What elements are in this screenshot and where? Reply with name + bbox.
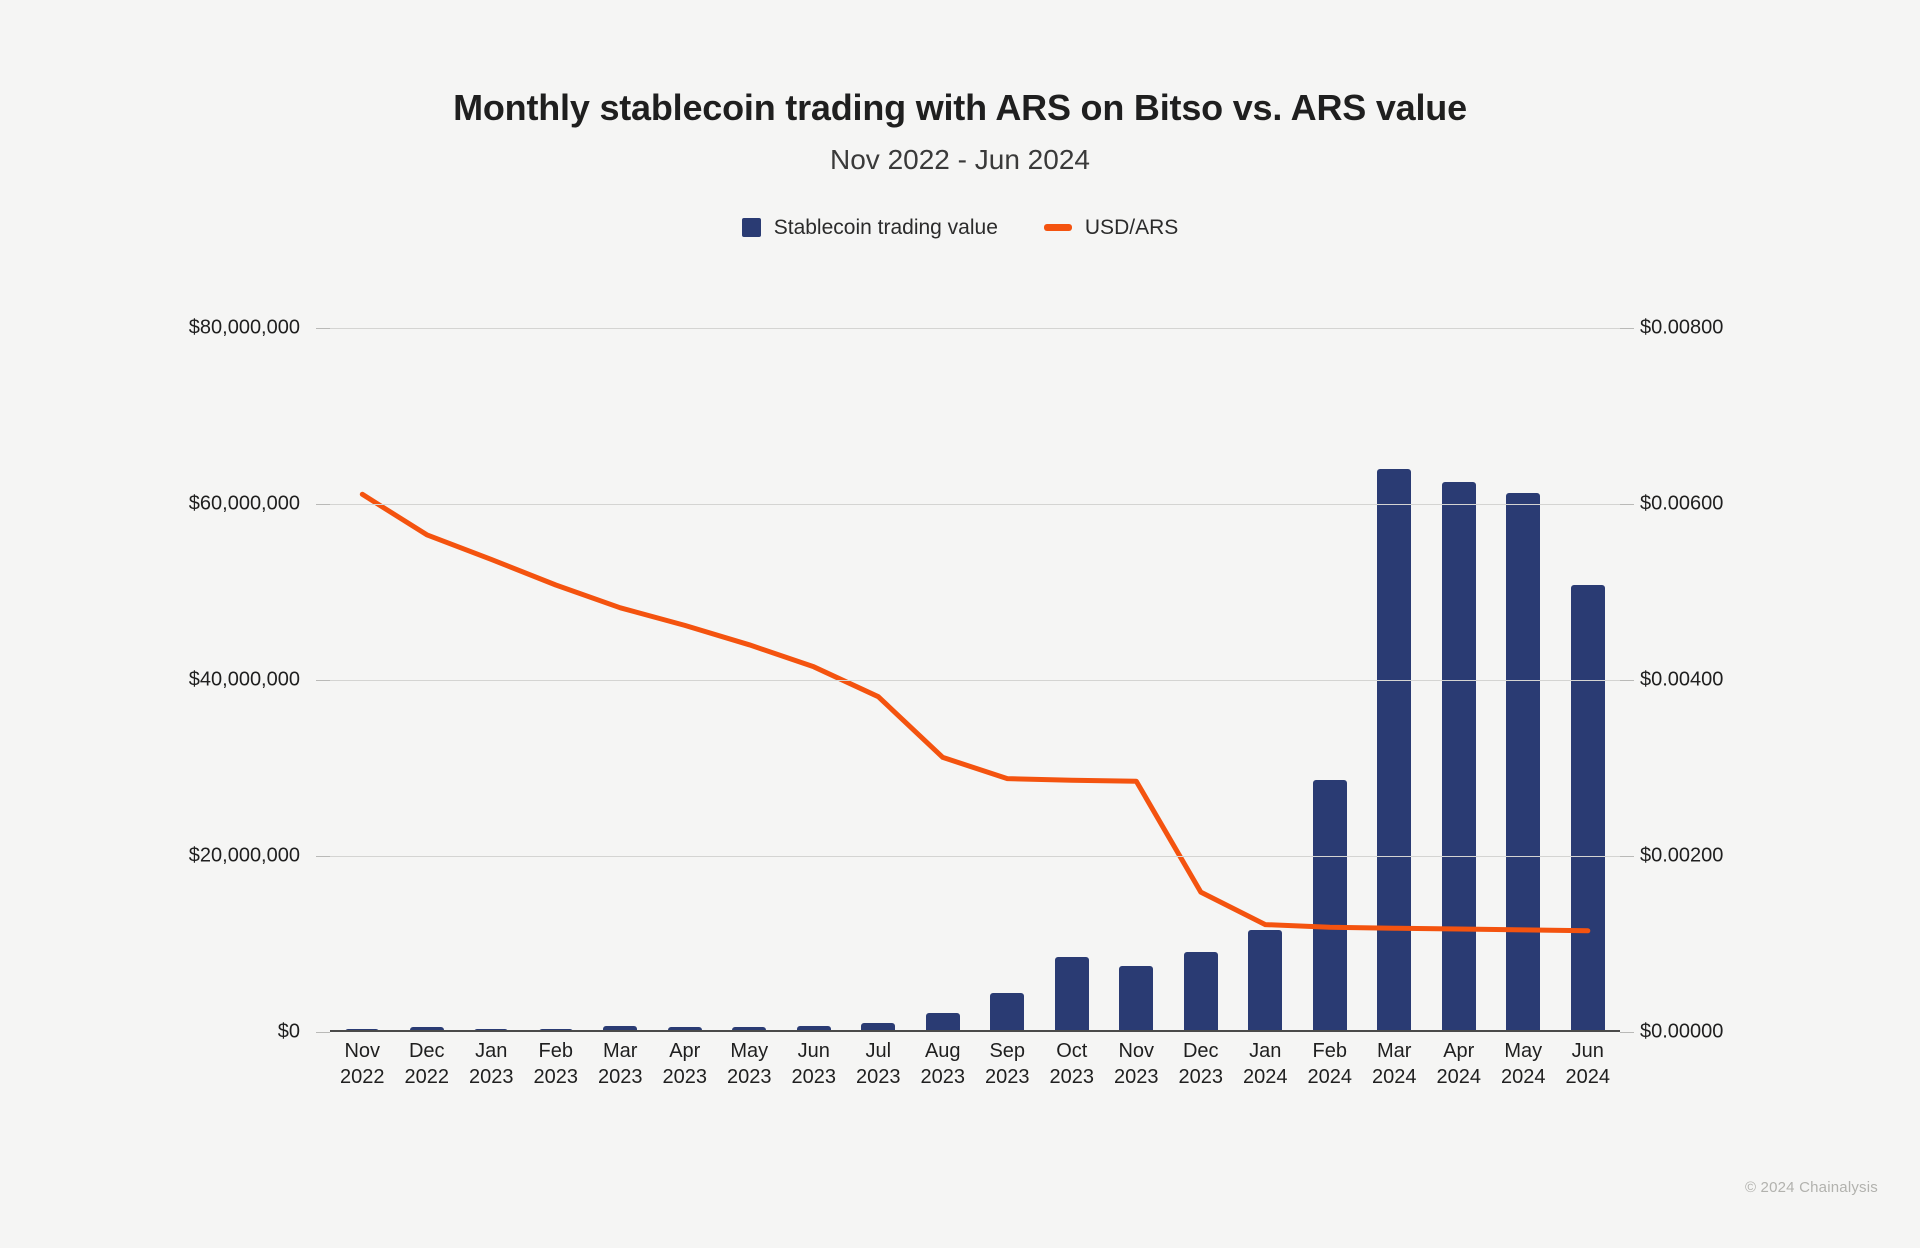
y-axis-right-tick-label: $0.00000 bbox=[1640, 1021, 1920, 1044]
gridline bbox=[330, 680, 1620, 681]
x-axis-tick-label: Apr2023 bbox=[663, 1038, 708, 1091]
y-axis-right-tick-label: $0.00200 bbox=[1640, 845, 1920, 868]
x-axis-year: 2023 bbox=[534, 1064, 579, 1090]
x-axis-year: 2023 bbox=[663, 1064, 708, 1090]
x-axis-tick-label: Mar2024 bbox=[1372, 1038, 1417, 1091]
legend-label: Stablecoin trading value bbox=[774, 216, 998, 240]
x-axis-year: 2023 bbox=[1050, 1064, 1095, 1090]
chart-header: Monthly stablecoin trading with ARS on B… bbox=[0, 0, 1920, 176]
y-axis-left-tick-label: $80,000,000 bbox=[20, 317, 300, 340]
x-axis-month: Nov bbox=[1114, 1038, 1159, 1064]
plot-area: $0$20,000,000$40,000,000$60,000,000$80,0… bbox=[0, 300, 1920, 1060]
x-axis-tick-label: Mar2023 bbox=[598, 1038, 643, 1091]
y-axis-left-tickmark bbox=[316, 856, 330, 857]
x-axis-month: Nov bbox=[340, 1038, 385, 1064]
usd-ars-line-path bbox=[362, 494, 1588, 931]
y-axis-left-tickmark bbox=[316, 504, 330, 505]
x-axis-year: 2024 bbox=[1437, 1064, 1482, 1090]
x-axis-year: 2023 bbox=[856, 1064, 901, 1090]
legend-line-icon bbox=[1044, 224, 1072, 231]
legend-square-icon bbox=[742, 218, 761, 237]
y-axis-right-tickmark bbox=[1620, 680, 1634, 681]
x-axis-tick-label: Sep2023 bbox=[985, 1038, 1030, 1091]
x-axis-month: Jan bbox=[1243, 1038, 1288, 1064]
gridline bbox=[330, 856, 1620, 857]
y-axis-right-tick-label: $0.00400 bbox=[1640, 669, 1920, 692]
x-axis-year: 2023 bbox=[792, 1064, 837, 1090]
x-axis-month: May bbox=[1501, 1038, 1546, 1064]
x-axis-year: 2023 bbox=[727, 1064, 772, 1090]
gridline bbox=[330, 504, 1620, 505]
y-axis-left-tick-label: $40,000,000 bbox=[20, 669, 300, 692]
x-axis-tick-label: Apr2024 bbox=[1437, 1038, 1482, 1091]
x-axis-tick-label: Nov2023 bbox=[1114, 1038, 1159, 1091]
x-axis-year: 2023 bbox=[1179, 1064, 1224, 1090]
x-axis-month: Mar bbox=[1372, 1038, 1417, 1064]
x-axis-month: Dec bbox=[1179, 1038, 1224, 1064]
copyright-credit: © 2024 Chainalysis bbox=[1745, 1179, 1878, 1196]
x-axis-month: May bbox=[727, 1038, 772, 1064]
gridline bbox=[330, 328, 1620, 329]
x-axis-line bbox=[330, 1030, 1620, 1032]
x-axis-month: Sep bbox=[985, 1038, 1030, 1064]
x-axis-tick-label: Jan2023 bbox=[469, 1038, 514, 1091]
y-axis-left-tickmark bbox=[316, 1032, 330, 1033]
y-axis-right-tickmark bbox=[1620, 856, 1634, 857]
y-axis-right-tick-label: $0.00600 bbox=[1640, 493, 1920, 516]
legend-label: USD/ARS bbox=[1085, 216, 1178, 240]
page-title: Monthly stablecoin trading with ARS on B… bbox=[0, 88, 1920, 128]
x-axis-month: Jul bbox=[856, 1038, 901, 1064]
y-axis-right-tickmark bbox=[1620, 1032, 1634, 1033]
x-axis-year: 2022 bbox=[405, 1064, 450, 1090]
x-axis-year: 2024 bbox=[1243, 1064, 1288, 1090]
x-axis-tick-label: Aug2023 bbox=[921, 1038, 966, 1091]
x-axis-tick-label: Jul2023 bbox=[856, 1038, 901, 1091]
x-axis-tick-label: Dec2022 bbox=[405, 1038, 450, 1091]
x-axis-tick-label: Dec2023 bbox=[1179, 1038, 1224, 1091]
x-axis-year: 2024 bbox=[1372, 1064, 1417, 1090]
x-axis-tick-label: Nov2022 bbox=[340, 1038, 385, 1091]
x-axis-tick-label: Oct2023 bbox=[1050, 1038, 1095, 1091]
x-axis-year: 2023 bbox=[469, 1064, 514, 1090]
chart-subtitle: Nov 2022 - Jun 2024 bbox=[0, 144, 1920, 176]
x-axis-year: 2023 bbox=[1114, 1064, 1159, 1090]
x-axis-month: Aug bbox=[921, 1038, 966, 1064]
y-axis-left-tick-label: $20,000,000 bbox=[20, 845, 300, 868]
x-axis-month: Apr bbox=[1437, 1038, 1482, 1064]
x-axis-year: 2023 bbox=[985, 1064, 1030, 1090]
y-axis-left-tickmark bbox=[316, 680, 330, 681]
x-axis-tick-label: Jun2023 bbox=[792, 1038, 837, 1091]
x-axis-month: Feb bbox=[1308, 1038, 1353, 1064]
x-axis-month: Apr bbox=[663, 1038, 708, 1064]
x-axis-year: 2024 bbox=[1501, 1064, 1546, 1090]
x-axis-year: 2022 bbox=[340, 1064, 385, 1090]
x-axis-month: Dec bbox=[405, 1038, 450, 1064]
x-axis-year: 2023 bbox=[921, 1064, 966, 1090]
x-axis-month: Jun bbox=[792, 1038, 837, 1064]
x-axis-tick-label: Feb2023 bbox=[534, 1038, 579, 1091]
x-axis-year: 2024 bbox=[1308, 1064, 1353, 1090]
x-axis-month: Mar bbox=[598, 1038, 643, 1064]
x-axis-year: 2024 bbox=[1566, 1064, 1611, 1090]
x-axis-month: Feb bbox=[534, 1038, 579, 1064]
x-axis-tick-label: Jan2024 bbox=[1243, 1038, 1288, 1091]
x-axis-tick-label: Feb2024 bbox=[1308, 1038, 1353, 1091]
y-axis-left-tick-label: $0 bbox=[20, 1021, 300, 1044]
x-axis-month: Jun bbox=[1566, 1038, 1611, 1064]
y-axis-left-tickmark bbox=[316, 328, 330, 329]
x-axis-tick-label: Jun2024 bbox=[1566, 1038, 1611, 1091]
legend-item-usd-ars[interactable]: USD/ARS bbox=[1044, 216, 1178, 240]
x-axis-year: 2023 bbox=[598, 1064, 643, 1090]
x-axis-tick-label: May2024 bbox=[1501, 1038, 1546, 1091]
y-axis-right-tick-label: $0.00800 bbox=[1640, 317, 1920, 340]
y-axis-right-tickmark bbox=[1620, 328, 1634, 329]
x-axis-tick-label: May2023 bbox=[727, 1038, 772, 1091]
y-axis-left-tick-label: $60,000,000 bbox=[20, 493, 300, 516]
x-axis-month: Oct bbox=[1050, 1038, 1095, 1064]
y-axis-right-tickmark bbox=[1620, 504, 1634, 505]
legend-item-stablecoin-trading-value[interactable]: Stablecoin trading value bbox=[742, 216, 998, 240]
chart-legend: Stablecoin trading value USD/ARS bbox=[0, 216, 1920, 240]
x-axis-month: Jan bbox=[469, 1038, 514, 1064]
x-axis-labels: Nov2022Dec2022Jan2023Feb2023Mar2023Apr20… bbox=[330, 1038, 1620, 1118]
